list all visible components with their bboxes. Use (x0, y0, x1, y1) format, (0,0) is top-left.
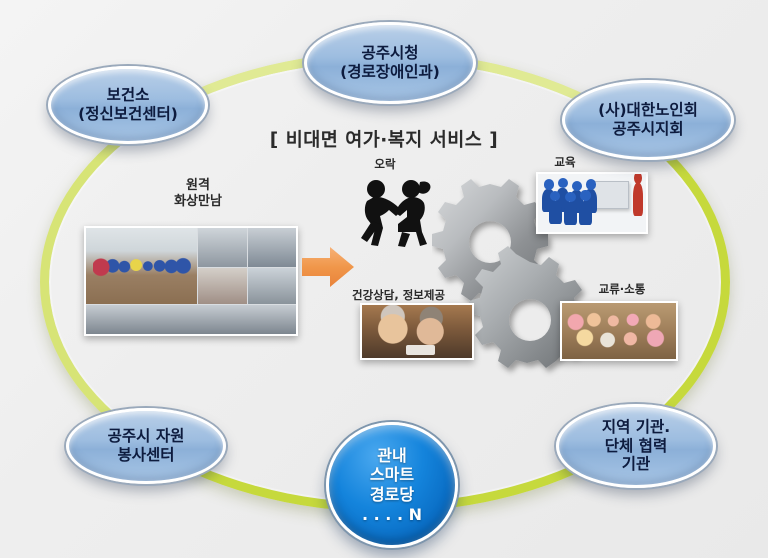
video-grid (86, 228, 296, 334)
caption-exchange: 교류·소통 (572, 282, 672, 296)
video-tile (198, 268, 246, 304)
dancing-people-icon (358, 176, 440, 248)
student-figure (579, 201, 592, 225)
video-tile (86, 305, 296, 334)
caption-education: 교육 (535, 155, 595, 169)
video-tile (248, 228, 296, 267)
video-tile (198, 228, 246, 267)
photo-video-conference (84, 226, 298, 336)
photo-content (562, 303, 676, 359)
node-regional-organizations[interactable]: 지역 기관. 단체 협력 기관 (556, 404, 716, 488)
arrow-right-icon (300, 244, 356, 290)
caption-health-counseling: 건강상담, 정보제공 (352, 288, 502, 302)
video-tile (248, 268, 296, 304)
whiteboard (592, 181, 629, 209)
node-volunteer-center[interactable]: 공주시 자원 봉사센터 (66, 408, 226, 484)
illustration-classroom (536, 172, 648, 234)
node-smart-senior-center[interactable]: 관내 스마트 경로당 . . . . N (326, 422, 458, 548)
diagram-canvas: [ 비대면 여가·복지 서비스 ] 원격 화상만남 오락 (0, 0, 768, 558)
photo-content (362, 305, 472, 358)
teacher-figure (633, 183, 643, 215)
node-health-center[interactable]: 보건소 (정신보건센터) (48, 66, 208, 144)
caption-entertainment: 오락 (355, 157, 415, 171)
student-figure (549, 201, 562, 224)
caption-remote-meeting: 원격 화상만남 (138, 178, 258, 211)
photo-elderly-smartphone (360, 303, 474, 360)
node-city-hall[interactable]: 공주시청 (경로장애인과) (304, 22, 476, 104)
video-tile (86, 228, 197, 304)
student-figure (564, 202, 577, 225)
photo-group-gathering (560, 301, 678, 361)
node-senior-association[interactable]: (사)대한노인회 공주시지회 (562, 80, 734, 160)
classroom-scene (538, 174, 646, 232)
